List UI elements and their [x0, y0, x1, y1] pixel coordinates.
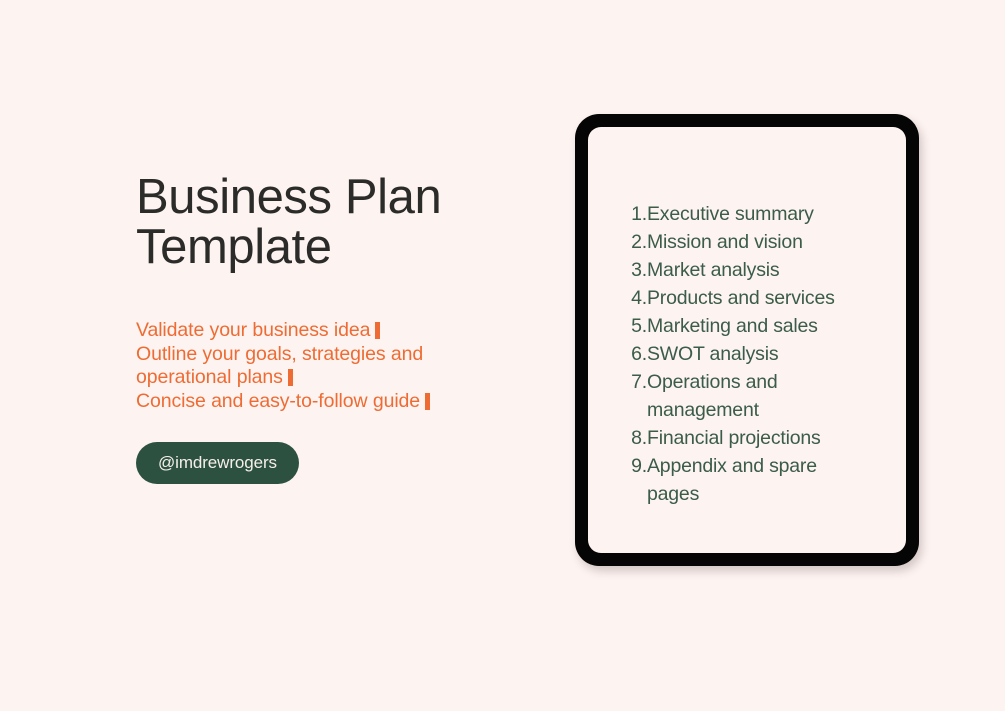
list-item-label: Operations and management	[647, 368, 862, 424]
list-item-number: 2.	[621, 228, 647, 256]
table-of-contents: 1.Executive summary2.Mission and vision3…	[621, 200, 892, 508]
list-item: 7.Operations and management	[621, 368, 892, 424]
list-item: 5.Marketing and sales	[621, 312, 892, 340]
list-item-label: Market analysis	[647, 256, 862, 284]
list-item-label: Mission and vision	[647, 228, 862, 256]
list-item-number: 4.	[621, 284, 647, 312]
list-item-label: Financial projections	[647, 424, 862, 452]
separator-bar-icon	[425, 393, 430, 410]
subtitle-line-3: Concise and easy-to-follow guide	[136, 390, 420, 412]
list-item-label: Appendix and spare pages	[647, 452, 862, 508]
tablet-device-mockup: 1.Executive summary2.Mission and vision3…	[575, 114, 919, 566]
list-item: 3.Market analysis	[621, 256, 892, 284]
subtitle-line-1: Validate your business idea	[136, 319, 370, 341]
separator-bar-icon	[288, 369, 293, 386]
social-handle-badge[interactable]: @imdrewrogers	[136, 442, 299, 484]
list-item: 2.Mission and vision	[621, 228, 892, 256]
social-handle-label: @imdrewrogers	[158, 453, 277, 473]
list-item-number: 7.	[621, 368, 647, 396]
list-item-number: 5.	[621, 312, 647, 340]
list-item: 9.Appendix and spare pages	[621, 452, 892, 508]
list-item-number: 9.	[621, 452, 647, 480]
list-item-label: Executive summary	[647, 200, 862, 228]
list-item: 1.Executive summary	[621, 200, 892, 228]
tablet-screen: 1.Executive summary2.Mission and vision3…	[588, 127, 906, 553]
list-item: 4.Products and services	[621, 284, 892, 312]
separator-bar-icon	[375, 322, 380, 339]
hero-text-block: Business Plan Template Validate your bus…	[136, 172, 556, 413]
list-item-number: 3.	[621, 256, 647, 284]
page-title: Business Plan Template	[136, 172, 556, 272]
list-item-label: SWOT analysis	[647, 340, 862, 368]
list-item: 6.SWOT analysis	[621, 340, 892, 368]
list-item-number: 1.	[621, 200, 647, 228]
list-item-number: 8.	[621, 424, 647, 452]
slide-canvas: Business Plan Template Validate your bus…	[0, 0, 1005, 711]
list-item-label: Products and services	[647, 284, 862, 312]
list-item-label: Marketing and sales	[647, 312, 862, 340]
subtitle-line-2: Outline your goals, strategies and opera…	[136, 343, 423, 389]
list-item: 8.Financial projections	[621, 424, 892, 452]
list-item-number: 6.	[621, 340, 647, 368]
subtitle-list: Validate your business idea Outline your…	[136, 319, 511, 413]
